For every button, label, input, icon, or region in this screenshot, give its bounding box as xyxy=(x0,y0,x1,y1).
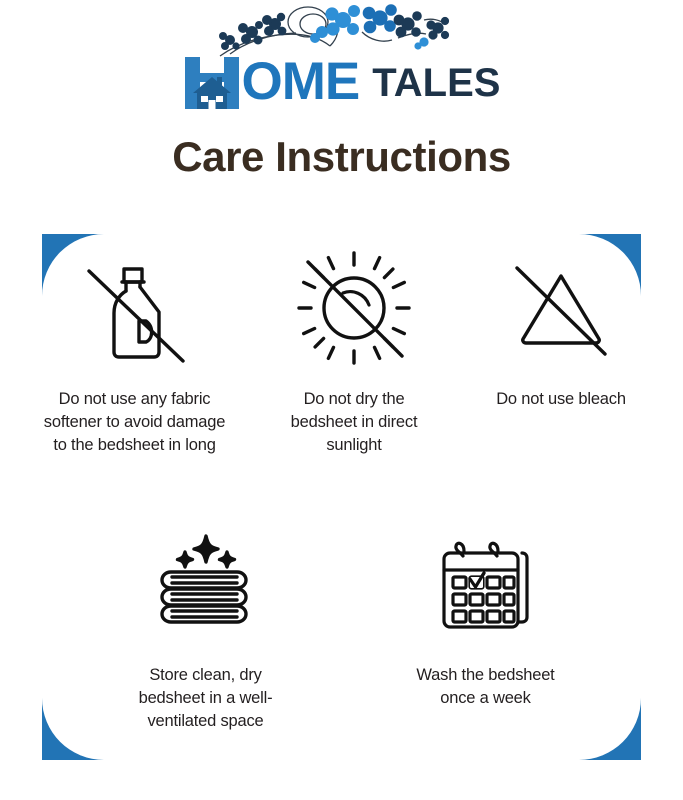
care-caption-bleach: Do not use bleach xyxy=(481,388,641,411)
care-item-wash: Wash the bedsheet once a week xyxy=(403,524,568,733)
corner-bottom-right-decoration xyxy=(579,698,641,760)
care-caption-wash: Wash the bedsheet once a week xyxy=(408,664,563,710)
care-items-row-one: Do not use any fabric softener to avoid … xyxy=(42,248,641,457)
logo-text-tales: TALES xyxy=(372,55,500,111)
care-caption-sunlight: Do not dry the bedsheet in direct sunlig… xyxy=(274,388,434,457)
care-icon-wrap xyxy=(432,524,540,644)
folded-clean-towels-sparkle-icon xyxy=(147,528,265,640)
house-in-letter-h-icon xyxy=(183,53,241,109)
logo-text-ome: OME xyxy=(242,54,360,110)
page-title: Care Instructions xyxy=(0,133,683,181)
care-icon-wrap xyxy=(505,248,617,368)
care-icon-wrap xyxy=(295,248,413,368)
care-caption-softener: Do not use any fabric softener to avoid … xyxy=(42,388,227,457)
care-item-store: Store clean, dry bedsheet in a well-vent… xyxy=(118,524,293,733)
care-items-row-two: Store clean, dry bedsheet in a well-vent… xyxy=(118,524,568,733)
care-item-bleach: Do not use bleach xyxy=(481,248,641,457)
no-direct-sunlight-sun-icon xyxy=(295,249,413,367)
care-icon-wrap xyxy=(75,248,195,368)
care-item-softener: Do not use any fabric softener to avoid … xyxy=(42,248,227,457)
no-fabric-softener-bottle-icon xyxy=(75,249,195,367)
brand-wordmark: OME TALES xyxy=(0,52,683,110)
calendar-check-icon xyxy=(432,529,540,639)
brand-logo: OME TALES xyxy=(0,0,683,118)
corner-bottom-left-decoration xyxy=(42,698,104,760)
care-caption-store: Store clean, dry bedsheet in a well-vent… xyxy=(123,664,288,733)
no-bleach-triangle-icon xyxy=(505,254,617,362)
care-instructions-poster: OME TALES Care Instructions xyxy=(0,0,683,800)
care-item-sunlight: Do not dry the bedsheet in direct sunlig… xyxy=(267,248,442,457)
care-icon-wrap xyxy=(147,524,265,644)
